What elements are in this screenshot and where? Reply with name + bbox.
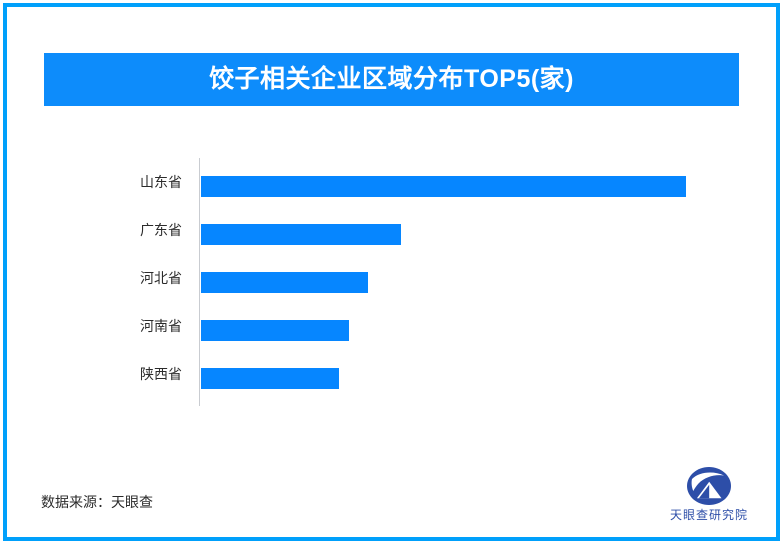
bar-row: 山东省 — [0, 161, 783, 209]
bar-row: 陕西省 — [0, 353, 783, 401]
brand-logo-text: 天眼查研究院 — [670, 508, 748, 522]
bar-row: 河北省 — [0, 257, 783, 305]
bar-segment[interactable] — [201, 176, 686, 197]
infographic-card: 饺子相关企业区域分布TOP5(家) 山东省广东省河北省河南省陕西省 数据来源：天… — [0, 0, 783, 544]
bar-category-label: 陕西省 — [22, 364, 182, 384]
bar-segment[interactable] — [201, 272, 368, 293]
bar-segment[interactable] — [201, 224, 401, 245]
data-source-note: 数据来源：天眼查 — [41, 492, 153, 512]
chart-title: 饺子相关企业区域分布TOP5(家) — [209, 67, 574, 92]
bar-category-label: 河南省 — [22, 316, 182, 336]
bar-category-label: 山东省 — [22, 172, 182, 192]
brand-logo: 天眼查研究院 — [660, 466, 758, 528]
bar-row: 河南省 — [0, 305, 783, 353]
bar-category-label: 河北省 — [22, 268, 182, 288]
bar-segment[interactable] — [201, 368, 339, 389]
bar-chart: 山东省广东省河北省河南省陕西省 — [0, 150, 783, 415]
frame-border-top — [3, 3, 780, 7]
tianyancha-eye-arch-logo-icon — [686, 466, 732, 506]
title-banner: 饺子相关企业区域分布TOP5(家) — [44, 53, 739, 106]
bar-category-label: 广东省 — [22, 220, 182, 240]
frame-border-bottom — [3, 537, 780, 541]
bar-segment[interactable] — [201, 320, 349, 341]
bar-row: 广东省 — [0, 209, 783, 257]
